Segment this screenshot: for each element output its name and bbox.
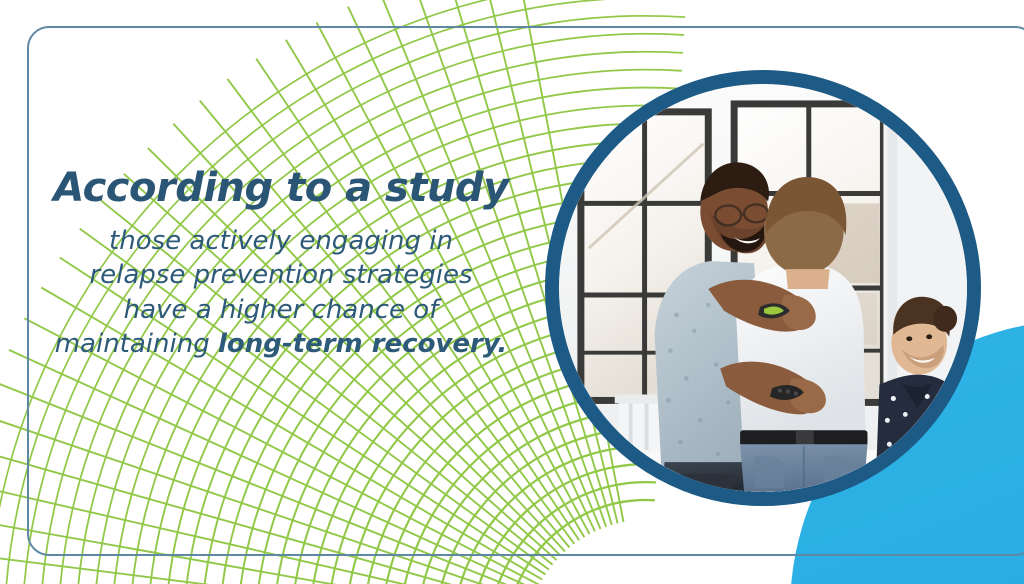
text-block: According to a study those actively enga…	[46, 168, 516, 361]
body-line-2: relapse prevention strategies	[46, 258, 516, 292]
slide-canvas: According to a study those actively enga…	[0, 0, 1024, 584]
body-line-4-emphasis: long-term recovery.	[218, 329, 507, 359]
body-line-1: those actively engaging in	[46, 224, 516, 258]
body-copy: those actively engaging in relapse preve…	[46, 224, 516, 361]
body-line-4: maintaining long-term recovery.	[46, 327, 516, 361]
photo-circle	[545, 70, 981, 506]
body-line-3: have a higher chance of	[46, 293, 516, 327]
page-title: According to a study	[46, 168, 516, 208]
photo-image	[559, 84, 967, 492]
body-line-4-prefix: maintaining	[55, 329, 218, 359]
